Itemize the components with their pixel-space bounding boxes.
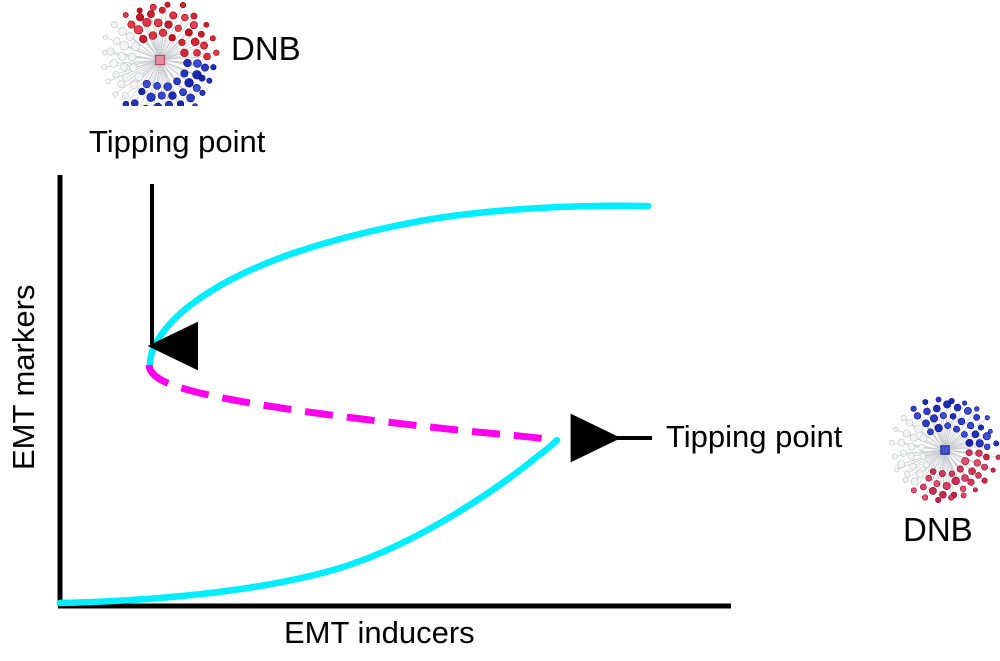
unstable-branch <box>149 365 552 440</box>
axis-group <box>58 175 731 606</box>
dnb-network-cluster-icon-top <box>98 0 222 106</box>
upper-stable-branch <box>150 206 648 364</box>
lower-stable-branch <box>60 440 557 603</box>
x-axis-label: EMT inducers <box>284 617 475 648</box>
dnb-network-cluster-icon-bottom <box>889 394 1000 506</box>
tipping-point-right-label: Tipping point <box>666 421 842 452</box>
bifurcation-figure: Tipping point Tipping point DNB DNB EMT … <box>0 0 1000 661</box>
y-axis-label: EMT markers <box>8 285 39 470</box>
dnb-bottom-label: DNB <box>903 513 973 546</box>
tipping-point-left-label: Tipping point <box>89 126 265 157</box>
dnb-top-label: DNB <box>231 32 301 65</box>
